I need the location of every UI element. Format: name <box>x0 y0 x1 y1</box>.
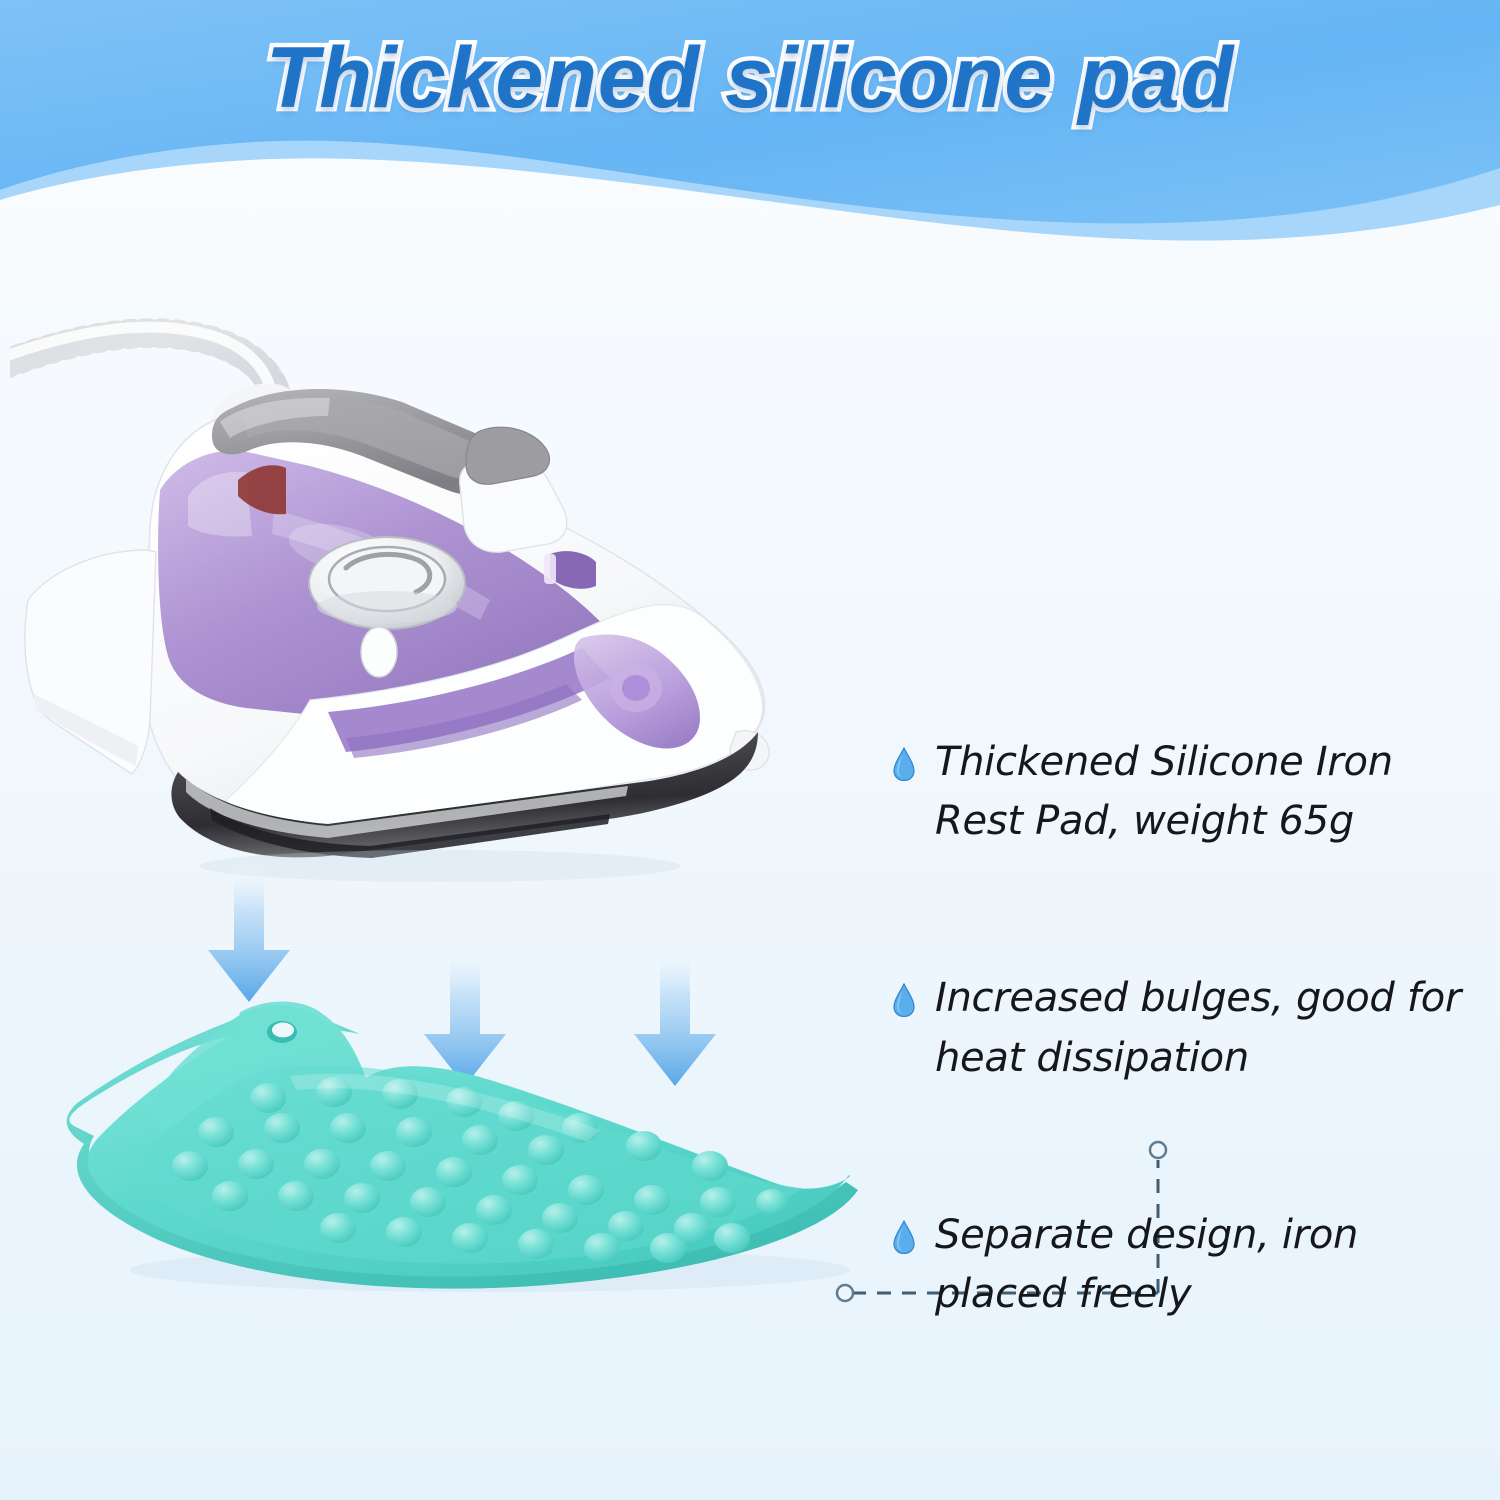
feature-list: Thickened Silicone Iron Rest Pad, weight… <box>893 733 1483 1324</box>
product-stage: Thickened Silicone Iron Rest Pad, weight… <box>0 250 1500 1500</box>
header-banner <box>0 0 1500 250</box>
iron-drop-bullet-icon <box>893 983 915 1017</box>
product-image-iron <box>10 300 850 920</box>
iron-spray-button[interactable] <box>361 627 397 677</box>
feature-item-2: Increased bulges, good for heat dissipat… <box>893 969 1483 1087</box>
feature-text-1: Thickened Silicone Iron Rest Pad, weight… <box>935 733 1480 851</box>
infographic-page: Thickened silicone pad Thickened silicon… <box>0 0 1500 1500</box>
feature-item-3: Separate design, iron placed freely <box>893 1206 1483 1324</box>
feature-text-3: Separate design, iron placed freely <box>935 1206 1480 1324</box>
iron-drop-bullet-icon <box>893 1220 915 1254</box>
feature-item-1: Thickened Silicone Iron Rest Pad, weight… <box>893 733 1483 851</box>
iron-grey-toggle[interactable] <box>466 427 549 484</box>
iron-temperature-dial[interactable] <box>309 537 465 629</box>
banner-wave-main <box>0 0 1500 223</box>
iron-drop-bullet-icon <box>893 747 915 781</box>
pad-hanging-hole <box>267 1021 297 1043</box>
product-image-pad <box>60 970 890 1300</box>
feature-text-2: Increased bulges, good for heat dissipat… <box>935 969 1480 1087</box>
